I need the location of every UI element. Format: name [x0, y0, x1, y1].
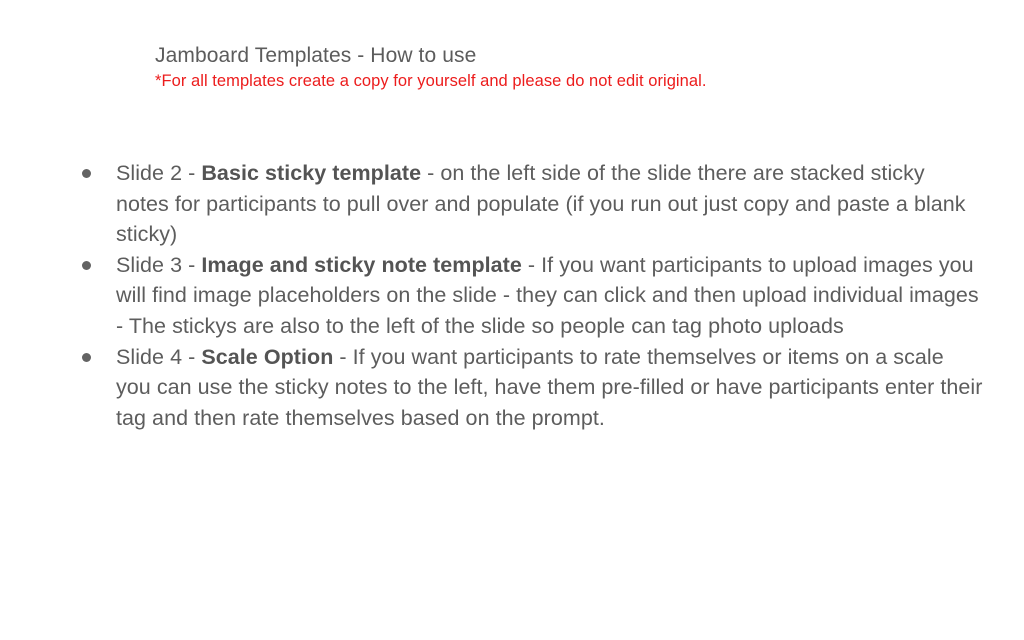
bullet-strong-text: Scale Option [201, 345, 333, 369]
body-block: Slide 2 - Basic sticky template - on the… [78, 158, 983, 433]
list-item: Slide 2 - Basic sticky template - on the… [78, 158, 983, 250]
list-item: Slide 4 - Scale Option - If you want par… [78, 342, 983, 434]
page-title: Jamboard Templates - How to use [155, 42, 975, 69]
bullet-lead-text: Slide 2 - [116, 161, 201, 185]
warning-subtitle: *For all templates create a copy for you… [155, 71, 975, 92]
slide-canvas: Jamboard Templates - How to use *For all… [0, 0, 1024, 640]
title-block: Jamboard Templates - How to use *For all… [155, 42, 975, 92]
disc-bullet-icon [82, 169, 91, 178]
bullet-lead-text: Slide 3 - [116, 253, 201, 277]
disc-bullet-icon [82, 261, 91, 270]
bullet-lead-text: Slide 4 - [116, 345, 201, 369]
bullet-strong-text: Image and sticky note template [201, 253, 522, 277]
instruction-list: Slide 2 - Basic sticky template - on the… [78, 158, 983, 433]
disc-bullet-icon [82, 353, 91, 362]
bullet-strong-text: Basic sticky template [201, 161, 421, 185]
list-item: Slide 3 - Image and sticky note template… [78, 250, 983, 342]
